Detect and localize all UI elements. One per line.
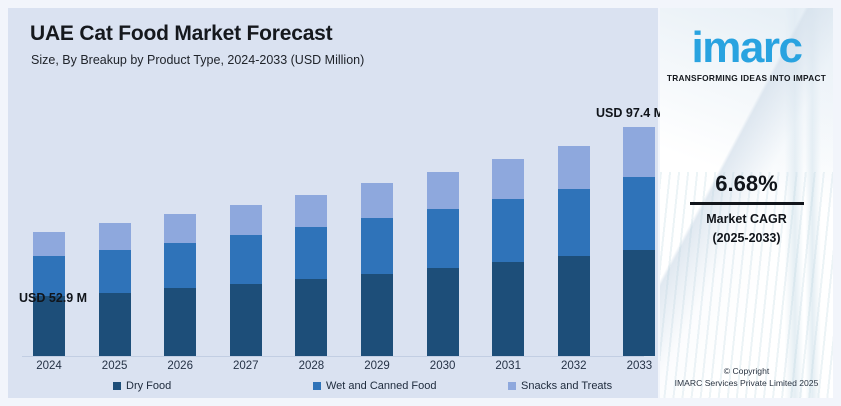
legend-label: Dry Food (126, 380, 171, 392)
bar-segment (295, 227, 327, 279)
legend-swatch (508, 382, 516, 390)
x-axis-label: 2027 (216, 360, 276, 372)
bar-segment (295, 279, 327, 356)
bar-segment (623, 127, 655, 177)
bar-group (492, 159, 524, 356)
bar-segment (361, 218, 393, 274)
legend-item[interactable]: Wet and Canned Food (313, 380, 436, 392)
bar-segment (230, 284, 262, 356)
bar-group (558, 146, 590, 356)
bar-segment (623, 250, 655, 356)
copyright-line-2: IMARC Services Private Limited 2025 (660, 378, 833, 388)
x-axis-label: 2032 (544, 360, 604, 372)
x-axis-label: 2026 (150, 360, 210, 372)
cagr-value: 6.68% (660, 171, 833, 197)
bar-segment (99, 223, 131, 249)
bar-group (623, 127, 655, 356)
plot-area: 2024202520262027202820292030203120322033 (8, 8, 658, 398)
infographic-root: UAE Cat Food Market Forecast Size, By Br… (0, 0, 841, 406)
legend-item[interactable]: Snacks and Treats (508, 380, 612, 392)
legend-item[interactable]: Dry Food (113, 380, 171, 392)
cagr-label: Market CAGR (660, 212, 833, 226)
bar-group (164, 214, 196, 356)
bar-segment (99, 293, 131, 356)
imarc-logo: imarc TRANSFORMING IDEAS INTO IMPACT (660, 26, 833, 83)
brand-panel-content: imarc TRANSFORMING IDEAS INTO IMPACT 6.6… (660, 8, 833, 398)
bar-segment (558, 256, 590, 356)
x-axis-label: 2028 (281, 360, 341, 372)
chart-legend: Dry FoodWet and Canned FoodSnacks and Tr… (8, 380, 658, 398)
legend-label: Snacks and Treats (521, 380, 612, 392)
brand-panel: imarc TRANSFORMING IDEAS INTO IMPACT 6.6… (660, 8, 833, 398)
bar-group (295, 195, 327, 357)
last-bar-value-label: USD 97.4 M (596, 106, 664, 120)
x-axis-label: 2030 (413, 360, 473, 372)
bar-segment (492, 199, 524, 262)
bar-segment (361, 274, 393, 356)
bar-segment (492, 262, 524, 356)
bar-segment (164, 214, 196, 242)
legend-label: Wet and Canned Food (326, 380, 436, 392)
bar-segment (230, 235, 262, 284)
x-axis-label: 2025 (85, 360, 145, 372)
bar-segment (558, 146, 590, 188)
bar-segment (33, 296, 65, 356)
bar-segment (558, 189, 590, 257)
bar-segment (295, 195, 327, 227)
chart-panel: UAE Cat Food Market Forecast Size, By Br… (8, 8, 658, 398)
copyright-line-1: © Copyright (660, 366, 833, 376)
imarc-logo-wordmark: imarc (692, 26, 802, 70)
bar-group (99, 223, 131, 356)
bar-segment (33, 232, 65, 257)
imarc-logo-tagline: TRANSFORMING IDEAS INTO IMPACT (660, 73, 833, 83)
bar-segment (164, 288, 196, 356)
bar-group (230, 205, 262, 356)
x-axis-line (22, 356, 644, 357)
legend-swatch (113, 382, 121, 390)
bar-segment (427, 172, 459, 209)
bar-segment (427, 209, 459, 268)
x-axis-label: 2031 (478, 360, 538, 372)
bar-group (361, 183, 393, 356)
bar-segment (427, 268, 459, 356)
bar-segment (99, 250, 131, 293)
legend-swatch (313, 382, 321, 390)
bar-group (427, 172, 459, 356)
bar-segment (230, 205, 262, 235)
cagr-period: (2025-2033) (660, 231, 833, 245)
bar-segment (164, 243, 196, 289)
x-axis-label: 2029 (347, 360, 407, 372)
first-bar-value-label: USD 52.9 M (19, 291, 87, 305)
bar-segment (492, 159, 524, 198)
bar-segment (623, 177, 655, 249)
bar-segment (361, 183, 393, 218)
cagr-divider (690, 202, 804, 205)
x-axis-label: 2024 (19, 360, 79, 372)
